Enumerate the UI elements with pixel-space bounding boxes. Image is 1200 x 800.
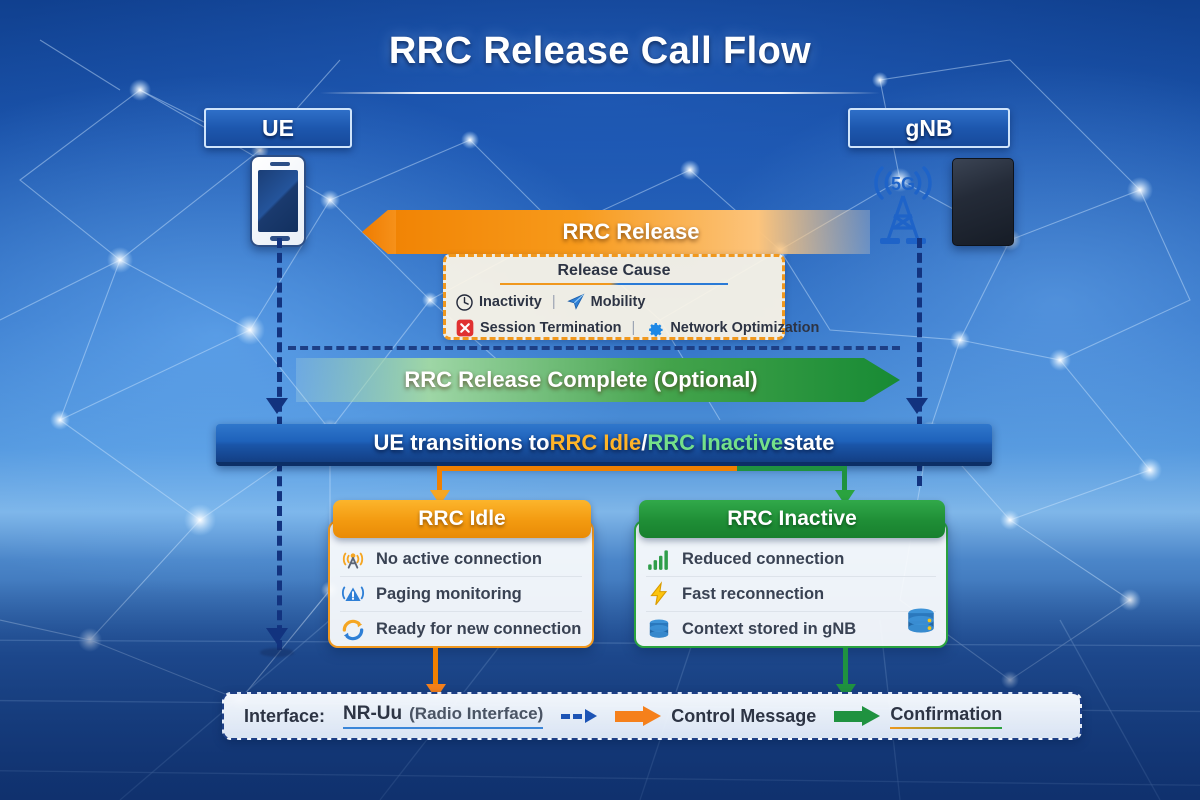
server-icon xyxy=(952,158,1014,246)
message-rrc-release-complete-label: RRC Release Complete (Optional) xyxy=(404,367,757,393)
list-item-label: Context stored in gNB xyxy=(682,620,856,639)
cause-separator: | xyxy=(552,294,556,310)
legend-interface-label: Interface: xyxy=(244,706,325,727)
branch-connector-idle xyxy=(437,466,737,471)
list-item: Paging monitoring xyxy=(340,577,582,612)
panel-rrc-idle-header[interactable]: RRC Idle xyxy=(333,500,591,538)
panel-rrc-idle-body: No active connection Paging monitoring xyxy=(330,542,592,647)
legend-interface-value: NR-Uu xyxy=(343,703,402,725)
list-item-label: No active connection xyxy=(376,550,542,569)
panel-rrc-idle-title: RRC Idle xyxy=(418,507,506,531)
branch-stem-inactive xyxy=(842,466,847,492)
panel-rrc-inactive: RRC Inactive Reduced connection Fast rec… xyxy=(634,520,948,648)
message-rrc-release[interactable]: RRC Release xyxy=(362,210,870,254)
list-item-label: Fast reconnection xyxy=(682,585,824,604)
transition-idle-label: RRC Idle xyxy=(550,430,642,456)
release-cause-label-inactivity: Inactivity xyxy=(479,294,542,310)
5g-tower-icon: 5G xyxy=(866,158,940,246)
clock-icon xyxy=(455,293,474,312)
branch-stem-idle xyxy=(437,466,442,492)
list-item: Fast reconnection xyxy=(646,577,936,612)
release-cause-item-mobility[interactable]: Mobility xyxy=(566,292,646,312)
list-item: No active connection xyxy=(340,542,582,577)
release-cause-label-network-optimization: Network Optimization xyxy=(670,320,819,336)
transition-inactive-label: RRC Inactive xyxy=(647,430,783,456)
release-cause-item-session-termination[interactable]: Session Termination xyxy=(455,318,622,338)
actor-ue-box[interactable]: UE xyxy=(204,108,352,148)
smartphone-icon xyxy=(250,155,306,247)
release-cause-title: Release Cause xyxy=(500,262,729,285)
panel-rrc-inactive-body: Reduced connection Fast reconnection Con… xyxy=(636,542,946,647)
x-square-icon xyxy=(455,318,475,338)
list-item: Reduced connection xyxy=(646,542,936,577)
green-arrow-icon xyxy=(834,706,880,726)
lightning-bolt-icon xyxy=(646,581,672,607)
message-rrc-release-complete[interactable]: RRC Release Complete (Optional) xyxy=(296,358,900,402)
phone-speaker xyxy=(270,162,290,166)
gnb-lifeline-arrowhead xyxy=(906,398,928,414)
legend-connector-idle xyxy=(433,648,438,686)
refresh-cycle-icon xyxy=(340,617,366,643)
list-item-label: Paging monitoring xyxy=(376,585,522,604)
page-title: RRC Release Call Flow xyxy=(0,30,1200,73)
orange-arrow-icon xyxy=(615,706,661,726)
panel-rrc-idle: RRC Idle No active connection xyxy=(328,520,594,648)
list-item: Context stored in gNB xyxy=(646,612,936,647)
paper-plane-icon xyxy=(566,292,586,312)
actor-ue-label: UE xyxy=(262,115,294,142)
panel-rrc-inactive-header[interactable]: RRC Inactive xyxy=(639,500,945,538)
release-cause-box: Release Cause Inactivity | Mobility xyxy=(443,254,785,340)
list-item-label: Reduced connection xyxy=(682,550,844,569)
diagram-canvas: RRC Release Call Flow UE gNB 5G xyxy=(0,0,1200,800)
dashed-arrow-icon xyxy=(561,709,597,723)
legend-interface-note: (Radio Interface) xyxy=(409,704,543,724)
legend-interface-group: NR-Uu (Radio Interface) xyxy=(343,703,543,729)
branch-connector-inactive xyxy=(737,466,847,471)
panel-rrc-inactive-title: RRC Inactive xyxy=(727,507,857,531)
cause-separator: | xyxy=(632,320,636,336)
release-cause-label-mobility: Mobility xyxy=(591,294,646,310)
legend-item-confirmation: Confirmation xyxy=(834,704,1002,729)
transition-suffix: state xyxy=(783,430,834,456)
release-cause-item-inactivity[interactable]: Inactivity xyxy=(455,293,542,312)
actor-gnb-box[interactable]: gNB xyxy=(848,108,1010,148)
message-rrc-release-label: RRC Release xyxy=(563,219,700,245)
legend-confirmation-label: Confirmation xyxy=(890,704,1002,729)
tower-5g-badge: 5G xyxy=(891,174,915,194)
legend-bar: Interface: NR-Uu (Radio Interface) Contr… xyxy=(222,692,1082,740)
release-cause-row: Session Termination | Network Optimizati… xyxy=(455,315,773,341)
ue-lifeline-arrowhead-end xyxy=(266,628,288,644)
ue-lifeline-arrowhead xyxy=(266,398,288,414)
title-underline xyxy=(320,92,880,94)
legend-control-message-label: Control Message xyxy=(671,706,816,727)
signal-bars-icon xyxy=(646,546,672,572)
no-signal-tower-icon xyxy=(340,546,366,572)
transition-prefix: UE transitions to xyxy=(374,430,550,456)
release-cause-label-session-termination: Session Termination xyxy=(480,320,622,336)
release-cause-row: Inactivity | Mobility xyxy=(455,289,773,315)
phone-screen xyxy=(258,170,298,232)
gear-icon xyxy=(645,318,665,338)
legend-connector-inactive xyxy=(843,648,848,686)
database-badge-icon xyxy=(904,606,938,640)
transition-bar[interactable]: UE transitions to RRC Idle / RRC Inactiv… xyxy=(216,424,992,466)
legend-item-control-message: Control Message xyxy=(615,706,816,727)
sequence-separator xyxy=(288,346,900,350)
ue-lifeline-shadow xyxy=(260,648,294,657)
release-cause-item-network-optimization[interactable]: Network Optimization xyxy=(645,318,819,338)
database-icon xyxy=(646,617,672,643)
actor-gnb-label: gNB xyxy=(905,115,952,142)
list-item-label: Ready for new connection xyxy=(376,620,581,639)
list-item: Ready for new connection xyxy=(340,612,582,647)
paging-alert-icon xyxy=(340,581,366,607)
